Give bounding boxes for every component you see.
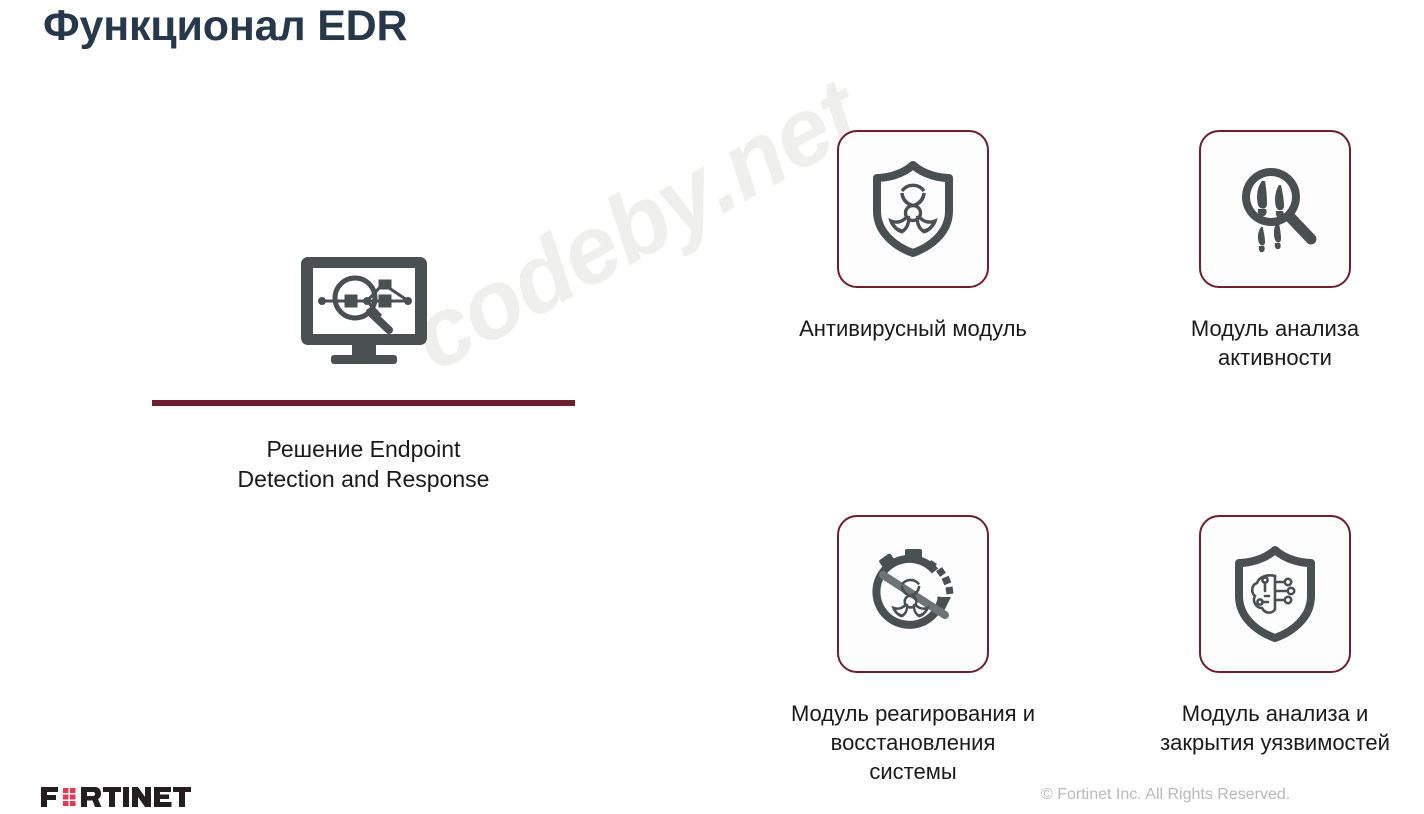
module-response-recovery[interactable]: Модуль реагирования и восстановления сис…: [788, 515, 1038, 786]
module-activity-analysis-card[interactable]: [1199, 130, 1351, 288]
page-title: Функционал EDR: [43, 2, 407, 51]
module-vulnerability-analysis[interactable]: Модуль анализа и закрытия уязвимостей: [1150, 515, 1400, 757]
module-grid: Антивирусный модуль: [780, 130, 1400, 790]
module-vulnerability-analysis-label: Модуль анализа и закрытия уязвимостей: [1120, 699, 1424, 757]
fortinet-logo-svg: [41, 785, 201, 809]
fortinet-logo: [41, 786, 201, 808]
module-activity-analysis[interactable]: Модуль анализа активности: [1150, 130, 1400, 372]
module-antivirus-label-line-1: Антивирусный модуль: [788, 314, 1038, 343]
module-antivirus-card[interactable]: [837, 130, 989, 288]
stopwatch-biohazard-blocked-icon: [863, 545, 963, 643]
module-antivirus[interactable]: Антивирусный модуль: [788, 130, 1038, 343]
module-activity-analysis-label: Модуль анализа активности: [1150, 314, 1400, 372]
magnifier-footprints-icon: [1229, 161, 1321, 257]
hero-caption: Решение Endpoint Detection and Response: [152, 434, 575, 494]
hero-block: Решение Endpoint Detection and Response: [152, 245, 575, 494]
monitor-network-search-icon: [295, 254, 433, 366]
module-activity-analysis-label-line-1: Модуль анализа: [1150, 314, 1400, 343]
hero-caption-line-1: Решение Endpoint: [152, 434, 575, 464]
shield-biohazard-icon: [870, 161, 956, 257]
module-response-recovery-label-line-3: системы: [758, 757, 1068, 786]
hero-caption-line-2: Detection and Response: [152, 464, 575, 494]
fortinet-grid-mark: [63, 788, 76, 806]
module-response-recovery-label-line-2: восстановления: [758, 728, 1068, 757]
module-activity-analysis-label-line-2: активности: [1150, 343, 1400, 372]
module-response-recovery-label-line-1: Модуль реагирования и: [758, 699, 1068, 728]
module-vulnerability-analysis-label-line-1: Модуль анализа и: [1120, 699, 1424, 728]
module-vulnerability-analysis-label-line-2: закрытия уязвимостей: [1120, 728, 1424, 757]
module-antivirus-label: Антивирусный модуль: [788, 314, 1038, 343]
hero-divider: [152, 400, 575, 406]
copyright-text: © Fortinet Inc. All Rights Reserved.: [1041, 786, 1290, 804]
module-response-recovery-card[interactable]: [837, 515, 989, 673]
hero-icon-wrap: [152, 245, 575, 375]
module-vulnerability-analysis-card[interactable]: [1199, 515, 1351, 673]
shield-circuit-brain-icon: [1232, 546, 1318, 642]
module-response-recovery-label: Модуль реагирования и восстановления сис…: [758, 699, 1068, 786]
